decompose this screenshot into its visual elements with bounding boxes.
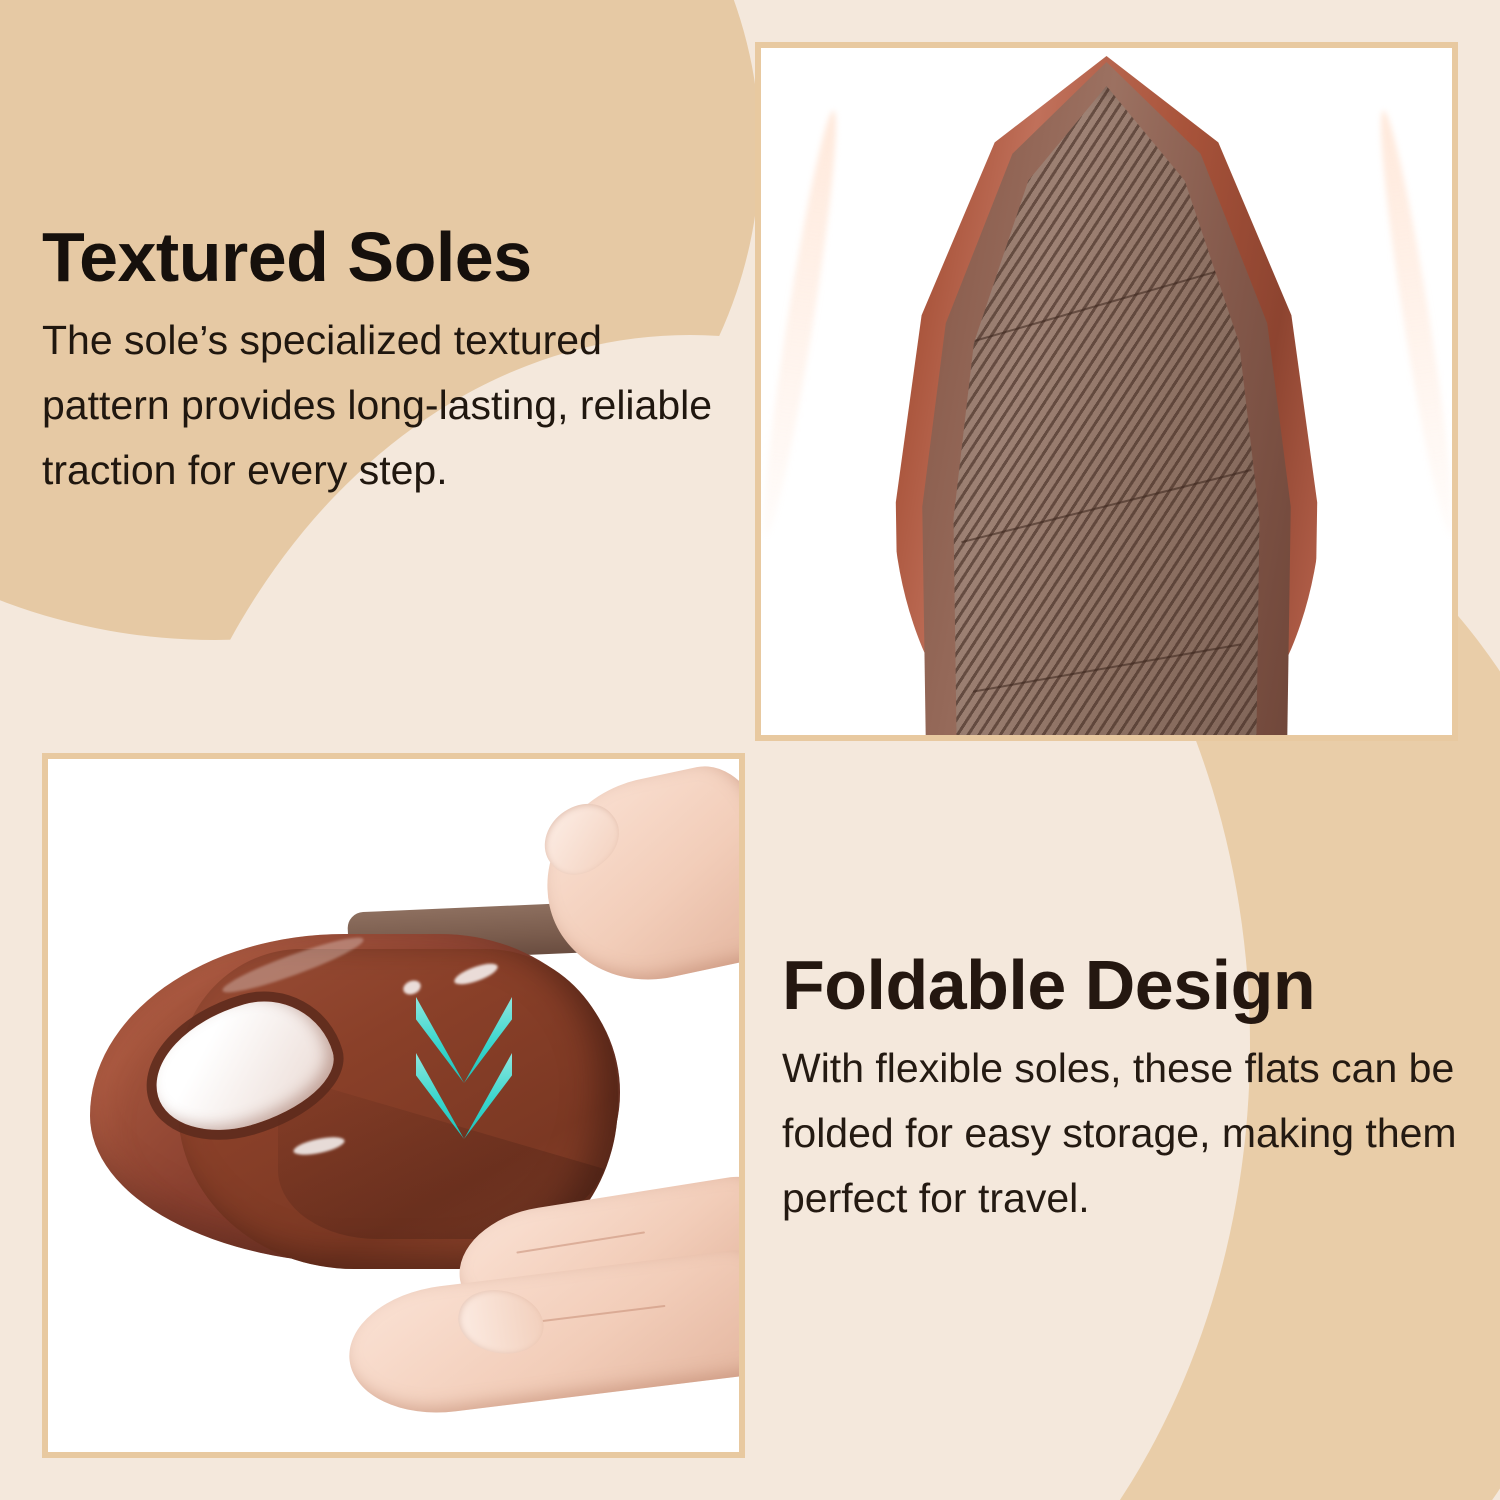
sole-image-panel — [755, 42, 1458, 741]
foldable-design-text-block: Foldable Design With flexible soles, the… — [782, 950, 1482, 1230]
sole-groove — [972, 644, 1240, 693]
sole-groove — [969, 263, 1244, 344]
sole-groove — [961, 469, 1252, 543]
foldable-design-heading: Foldable Design — [782, 950, 1482, 1020]
foldable-design-description: With flexible soles, these flats can be … — [782, 1036, 1482, 1230]
textured-soles-description: The sole’s specialized textured pattern … — [42, 308, 732, 502]
textured-soles-heading: Textured Soles — [42, 222, 732, 292]
finger-crease — [516, 1231, 645, 1253]
sole-illustration — [761, 48, 1452, 735]
infographic-canvas: Textured Soles The sole’s specialized te… — [0, 0, 1500, 1500]
chevron-down-icon — [416, 1053, 512, 1139]
foldable-image-panel — [42, 753, 745, 1458]
sole-highlight-left — [755, 109, 846, 538]
fold-direction-arrow-icon — [416, 997, 512, 1145]
chevron-down-icon — [416, 997, 512, 1083]
hand-thumb — [528, 755, 745, 998]
folded-shoe-illustration — [48, 759, 739, 1452]
thumb-nail — [531, 790, 632, 888]
sole-highlight-right — [1371, 109, 1458, 538]
textured-soles-text-block: Textured Soles The sole’s specialized te… — [42, 222, 732, 502]
